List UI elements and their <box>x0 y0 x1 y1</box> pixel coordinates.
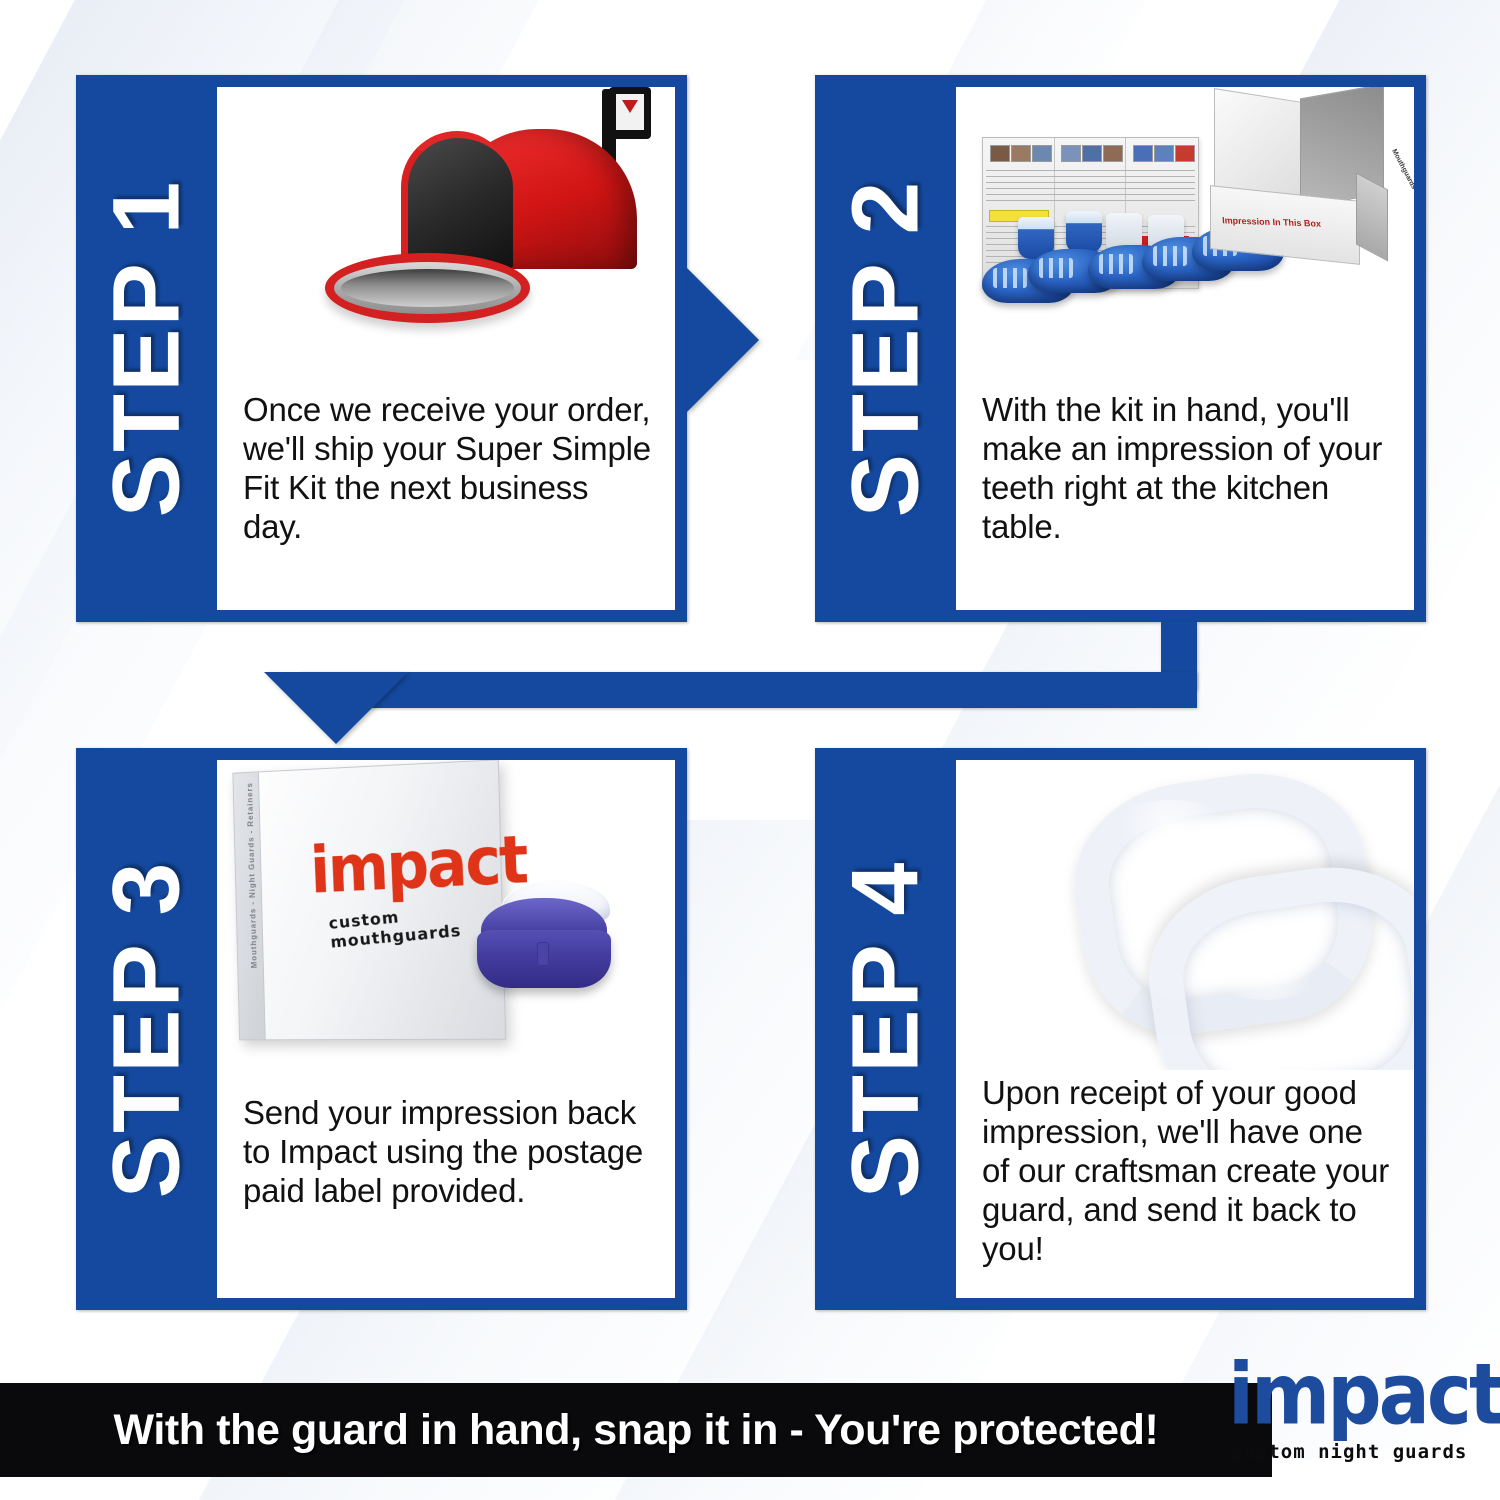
step-4-content: Upon receipt of your good impression, we… <box>956 760 1414 1298</box>
step-card-1: STEP 1 Once we receive your order, we'll… <box>76 75 687 622</box>
step-3-image: Mouthguards - Night Guards - Retainers i… <box>217 760 675 1090</box>
red-mailbox-photo <box>217 87 675 387</box>
step-4-image <box>956 760 1414 1070</box>
impact-return-box-photo: Mouthguards - Night Guards - Retainers i… <box>217 760 675 1090</box>
bottom-banner: With the guard in hand, snap it in - You… <box>0 1383 1272 1477</box>
box-side-label: Mouthguards - Night Guards - Retainers <box>1390 148 1414 269</box>
guard-storage-case <box>475 878 613 990</box>
connector-horizontal-step2-step3 <box>300 672 1197 708</box>
steps-infographic: STEP 1 Once we receive your order, we'll… <box>0 0 1500 1500</box>
step-4-label: STEP 4 <box>831 860 940 1198</box>
step-1-image <box>217 87 675 387</box>
arrow-step2-to-step3-icon <box>264 672 408 744</box>
step-3-content: Mouthguards - Night Guards - Retainers i… <box>217 760 675 1298</box>
step-4-label-strip: STEP 4 <box>815 748 956 1310</box>
step-2-image: Impression In This Box Mouthguards - Nig… <box>956 87 1414 387</box>
step-1-caption: Once we receive your order, we'll ship y… <box>217 387 675 547</box>
impact-footer-logo: impact custom night guards <box>1228 1355 1500 1475</box>
step-2-content: Impression In This Box Mouthguards - Nig… <box>956 87 1414 610</box>
shipping-box: Impression In This Box Mouthguards - Nig… <box>1208 95 1386 270</box>
box-spine: Mouthguards - Night Guards - Retainers <box>233 772 265 1039</box>
step-2-label-strip: STEP 2 <box>815 75 956 622</box>
step-1-label-strip: STEP 1 <box>76 75 217 622</box>
case-clasp-icon <box>537 942 549 966</box>
step-2-label: STEP 2 <box>831 180 940 518</box>
impression-kit-photo: Impression In This Box Mouthguards - Nig… <box>956 87 1414 387</box>
step-3-label-strip: STEP 3 <box>76 748 217 1310</box>
step-3-label: STEP 3 <box>92 860 201 1198</box>
step-1-content: Once we receive your order, we'll ship y… <box>217 87 675 610</box>
step-3-caption: Send your impression back to Impact usin… <box>217 1090 675 1211</box>
step-1-label: STEP 1 <box>92 180 201 518</box>
impact-wordmark: impact <box>1228 1360 1500 1430</box>
clear-night-guards-photo <box>956 760 1414 1070</box>
impact-tagline: custom night guards <box>1231 1441 1467 1463</box>
step-card-4: STEP 4 Upon receipt of your good impress… <box>815 748 1426 1310</box>
banner-text: With the guard in hand, snap it in - You… <box>114 1406 1159 1455</box>
step-card-3: STEP 3 Mouthguards - Night Guards - Reta… <box>76 748 687 1310</box>
step-4-caption: Upon receipt of your good impression, we… <box>956 1070 1414 1269</box>
mailbox-opening <box>401 131 513 269</box>
step-2-caption: With the kit in hand, you'll make an imp… <box>956 387 1414 547</box>
step-card-2: STEP 2 <box>815 75 1426 622</box>
arrow-step1-to-step2-icon <box>687 268 759 412</box>
mailbox-door <box>325 253 530 323</box>
box-spine-text: Mouthguards - Night Guards - Retainers <box>246 821 258 968</box>
return-box: Mouthguards - Night Guards - Retainers i… <box>232 760 506 1040</box>
